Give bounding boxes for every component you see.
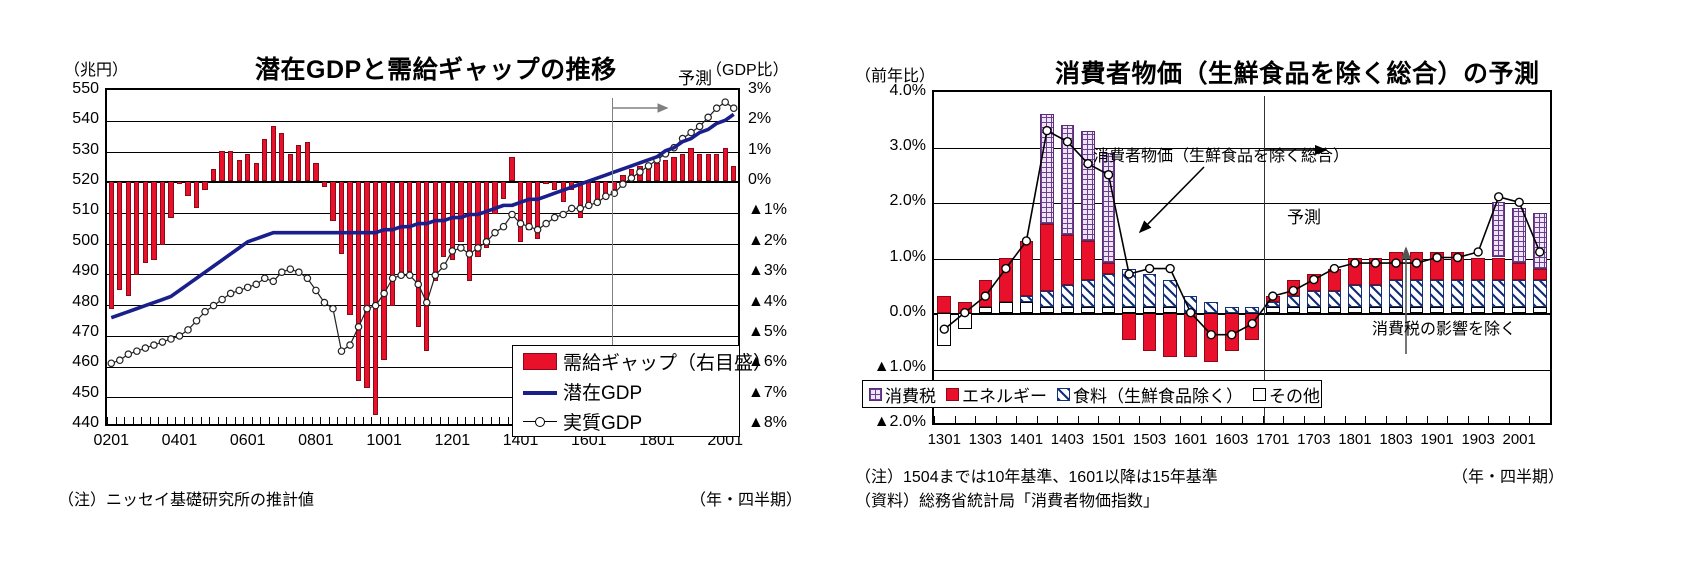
white-key-icon: [1253, 388, 1266, 401]
legend-item-consumption-tax: 消費税: [869, 382, 936, 407]
left-ytick-right: 3%: [748, 80, 808, 98]
legend-item-other: その他: [1253, 382, 1320, 407]
left-ytick: 510: [47, 201, 99, 219]
left-ytick: 520: [47, 171, 99, 189]
red-bar-key-icon: [523, 353, 557, 370]
left-xtick: 0201: [77, 432, 145, 450]
left-ytick-right: 1%: [748, 141, 808, 159]
legend-label-food: 食料（生鮮食品除く）: [1073, 382, 1243, 407]
right-ytick: ▲1.0%: [856, 358, 926, 376]
left-ytick-right: ▲5%: [748, 323, 808, 341]
left-ytick: 470: [47, 323, 99, 341]
right-ytick: 0.0%: [856, 303, 926, 321]
left-chart-panel: （兆円） 潜在GDPと需給ギャップの推移 （GDP比） 予測 550540530…: [0, 0, 840, 575]
left-ytick-right: 0%: [748, 171, 808, 189]
left-ytick: 450: [47, 384, 99, 402]
left-ytick: 490: [47, 262, 99, 280]
left-ytick: 540: [47, 110, 99, 128]
left-ytick-right: ▲3%: [748, 262, 808, 280]
purple-grid-key-icon: [869, 388, 882, 401]
left-ytick: 460: [47, 353, 99, 371]
right-tax-annotation: 消費税の影響を除く: [1372, 315, 1516, 339]
left-xtick: 1201: [418, 432, 486, 450]
blue-diagonal-key-icon: [1057, 388, 1070, 401]
legend-item-potential-gdp: 潜在GDP: [513, 376, 739, 406]
left-ytick: 530: [47, 141, 99, 159]
left-ytick: 500: [47, 232, 99, 250]
left-chart-note: （注）ニッセイ基礎研究所の推計値: [58, 486, 314, 510]
legend-label-energy: エネルギー: [962, 382, 1047, 407]
legend-label-other: その他: [1269, 382, 1320, 407]
right-xminor-tick: [1550, 416, 1551, 423]
navy-line-key-icon: [523, 384, 557, 399]
left-chart-title: 潜在GDPと需給ギャップの推移: [255, 50, 617, 86]
left-ytick-right: ▲7%: [748, 384, 808, 402]
right-ytick: 2.0%: [856, 192, 926, 210]
left-ytick-right: ▲1%: [748, 201, 808, 219]
left-xtick: 0601: [214, 432, 282, 450]
legend-item-energy: エネルギー: [946, 382, 1047, 407]
left-yaxis-unit-label: （兆円）: [64, 56, 128, 80]
left-xtick: 0401: [145, 432, 213, 450]
left-xtick: 0801: [282, 432, 350, 450]
left-xtick: 1001: [350, 432, 418, 450]
right-series-annotation: 消費者物価（生鮮食品を除く総合）: [1093, 142, 1349, 166]
left-xaxis-unit: （年・四半期）: [690, 486, 802, 510]
right-forecast-label: 予測: [1287, 203, 1321, 228]
open-circle-line-key-icon: [523, 414, 557, 429]
legend-item-real-gdp: 実質GDP: [513, 406, 739, 436]
left-ytick-right: ▲8%: [748, 414, 808, 432]
left-ytick-right: ▲4%: [748, 293, 808, 311]
left-chart-legend: 需給ギャップ（右目盛） 潜在GDP 実質GDP: [512, 345, 740, 437]
right-ytick: 3.0%: [856, 137, 926, 155]
left-yaxis-right-unit-label: （GDP比）: [706, 56, 789, 80]
right-chart-note-2: （資料）総務省統計局「消費者物価指数」: [855, 487, 1159, 511]
right-chart-note-1: （注）1504までは10年基準、1601以降は15年基準: [855, 463, 1218, 487]
right-ytick: ▲2.0%: [856, 413, 926, 431]
left-ytick-right: 2%: [748, 110, 808, 128]
legend-item-demand-gap: 需給ギャップ（右目盛）: [513, 346, 739, 376]
right-ytick: 4.0%: [856, 82, 926, 100]
left-ytick: 550: [47, 80, 99, 98]
right-xtick: 2001: [1487, 431, 1551, 448]
red-key-icon: [946, 388, 959, 401]
right-chart-title: 消費者物価（生鮮食品を除く総合）の予測: [1055, 54, 1540, 90]
right-chart-panel: （前年比） 消費者物価（生鮮食品を除く総合）の予測 予測 消費者物価（生鮮食品: [840, 0, 1683, 575]
right-xaxis-unit: （年・四半期）: [1452, 463, 1564, 487]
left-forecast-label: 予測: [678, 64, 712, 89]
right-chart-legend: 消費税 エネルギー 食料（生鮮食品除く） その他: [862, 380, 1322, 408]
legend-label-real-gdp: 実質GDP: [563, 408, 642, 435]
legend-item-food: 食料（生鮮食品除く）: [1057, 382, 1243, 407]
left-ytick: 480: [47, 293, 99, 311]
left-ytick-right: ▲2%: [748, 232, 808, 250]
right-plot-area: [932, 90, 1552, 425]
left-ytick: 440: [47, 414, 99, 432]
right-ytick: 1.0%: [856, 248, 926, 266]
legend-label-potential-gdp: 潜在GDP: [563, 378, 642, 405]
legend-label-consumption-tax: 消費税: [885, 382, 936, 407]
legend-label-demand-gap: 需給ギャップ（右目盛）: [563, 348, 772, 375]
figure-page: （兆円） 潜在GDPと需給ギャップの推移 （GDP比） 予測 550540530…: [0, 0, 1683, 575]
